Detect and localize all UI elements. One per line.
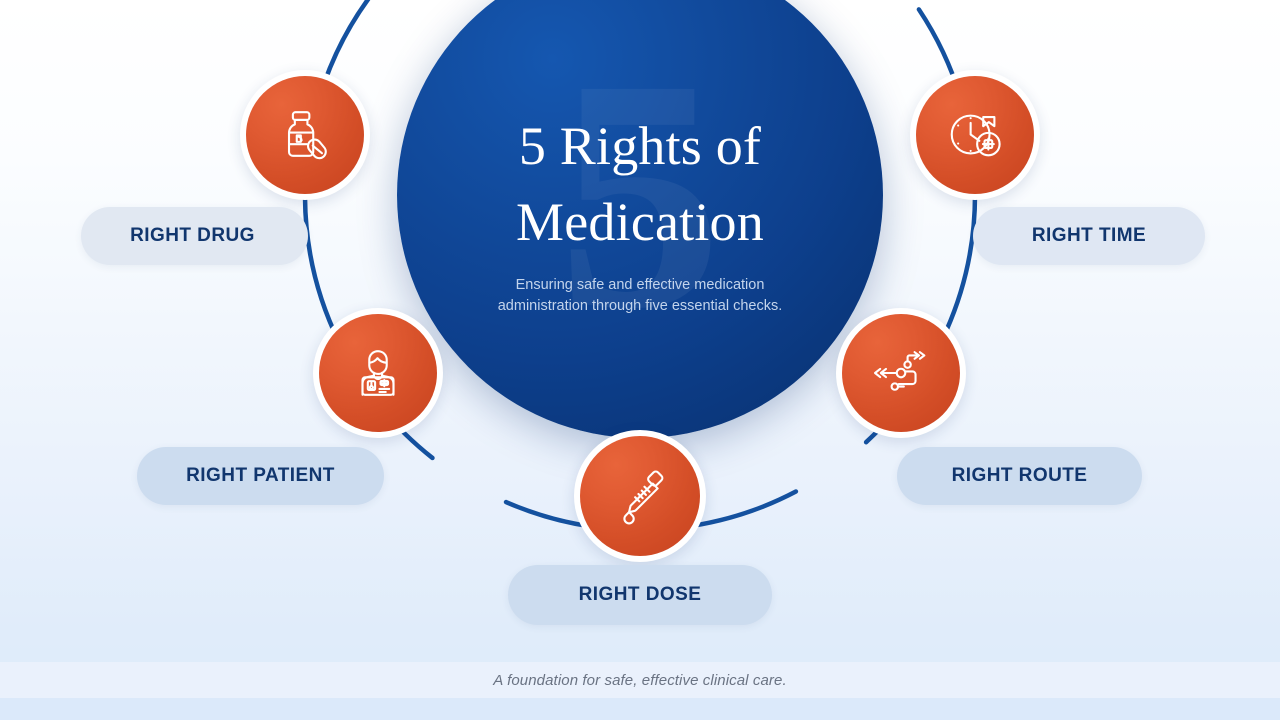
- node-right-route-disc: [842, 314, 960, 432]
- label-right-drug-text: RIGHT DRUG: [130, 225, 255, 247]
- node-right-route[interactable]: [836, 308, 966, 438]
- label-right-route[interactable]: RIGHT ROUTE: [897, 447, 1142, 505]
- node-right-time-disc: [916, 76, 1034, 194]
- label-right-time[interactable]: RIGHT TIME: [973, 207, 1205, 265]
- dropper-pipette-droplet-icon: [609, 465, 671, 527]
- clock-medical-cross-icon: [944, 104, 1006, 166]
- node-right-dose-disc: [580, 436, 700, 556]
- node-right-drug-disc: [246, 76, 364, 194]
- node-right-dose[interactable]: [574, 430, 706, 562]
- node-right-patient-disc: [319, 314, 437, 432]
- page-subtitle: Ensuring safe and effective medication a…: [494, 275, 786, 316]
- center-hub: 5 5 Rights of Medication Ensuring safe a…: [397, 0, 883, 438]
- infographic-canvas: 5 5 Rights of Medication Ensuring safe a…: [0, 0, 1280, 720]
- label-right-time-text: RIGHT TIME: [1032, 225, 1146, 247]
- page-title: 5 Rights of Medication: [475, 108, 805, 261]
- label-right-patient-text: RIGHT PATIENT: [186, 465, 335, 487]
- label-right-dose[interactable]: RIGHT DOSE: [508, 565, 772, 625]
- label-right-drug[interactable]: RIGHT DRUG: [81, 207, 308, 265]
- route-pathway-arrows-icon: [870, 342, 932, 404]
- footer-caption: A foundation for safe, effective clinica…: [0, 662, 1280, 698]
- patient-id-badge-icon: [347, 342, 409, 404]
- node-right-drug[interactable]: [240, 70, 370, 200]
- footer-bottom-strip: [0, 698, 1280, 720]
- medicine-bottle-pills-icon: [274, 104, 336, 166]
- node-right-patient[interactable]: [313, 308, 443, 438]
- hub-content: 5 Rights of Medication Ensuring safe and…: [397, 0, 883, 438]
- node-right-time[interactable]: [910, 70, 1040, 200]
- label-right-dose-text: RIGHT DOSE: [579, 584, 702, 606]
- label-right-patient[interactable]: RIGHT PATIENT: [137, 447, 384, 505]
- label-right-route-text: RIGHT ROUTE: [952, 465, 1088, 487]
